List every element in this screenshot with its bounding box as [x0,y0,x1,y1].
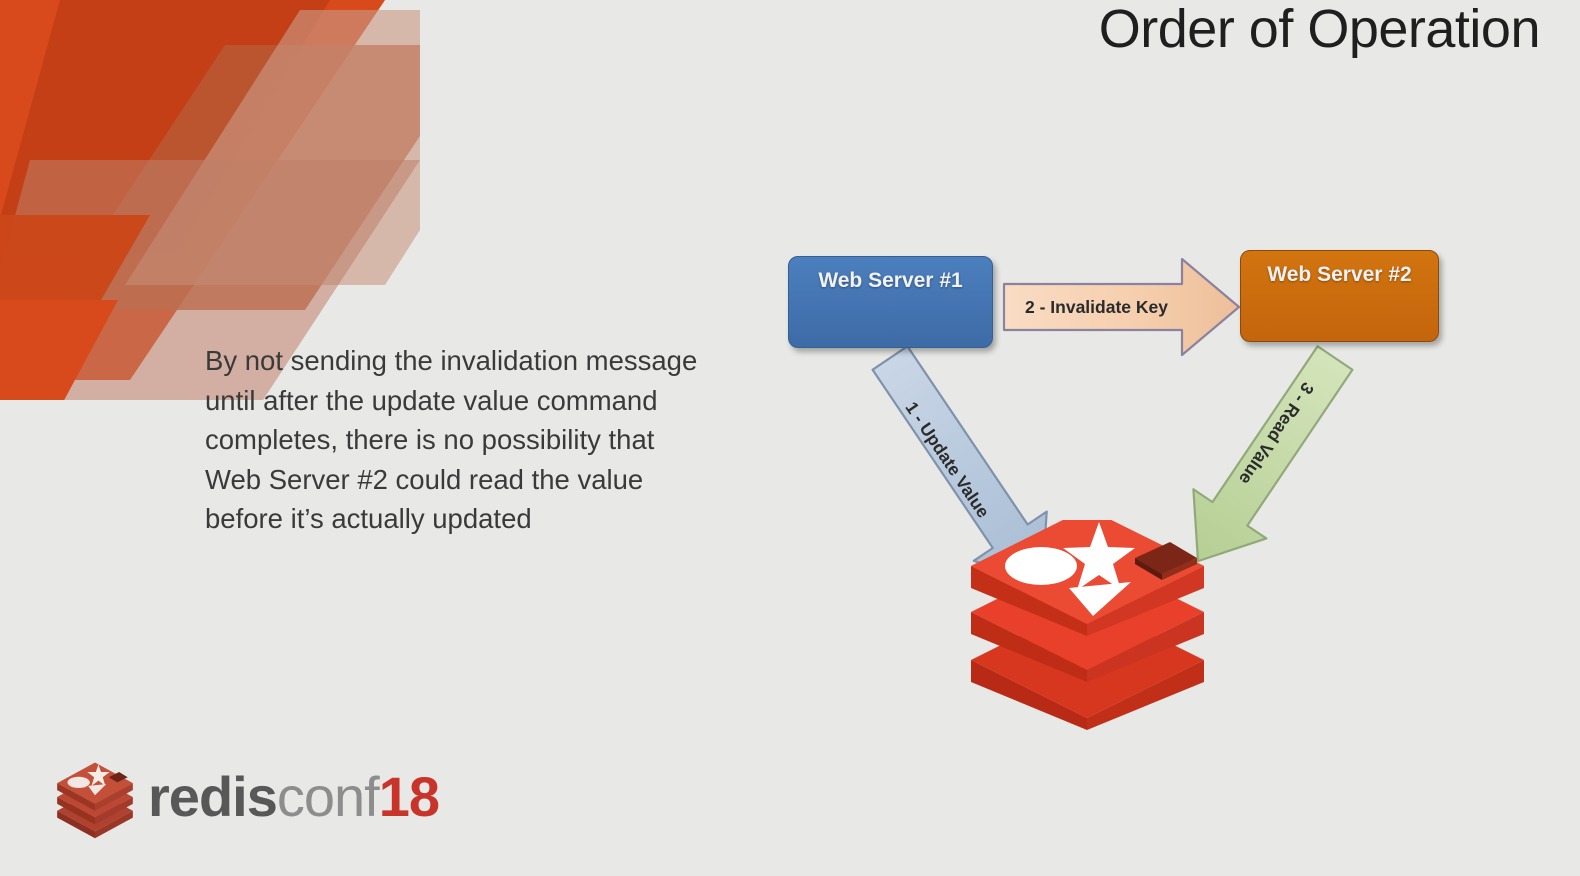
corner-chevron-graphic [0,0,420,400]
redisconf-logo: redisconf18 [52,752,439,842]
node-web-server-2[interactable]: Web Server #2 [1240,250,1439,342]
redisconf-wordmark: redisconf18 [148,769,439,825]
node-web-server-1[interactable]: Web Server #1 [788,256,993,348]
wordmark-year: 18 [379,765,439,828]
wordmark-conf: conf [277,765,379,828]
node-web-server-2-label: Web Server #2 [1267,263,1411,341]
redis-cube-icon [52,754,138,840]
body-paragraph: By not sending the invalidation message … [205,341,705,539]
presentation-slide: Order of Operation By not sending the in… [0,0,1580,876]
wordmark-redis: redis [148,765,277,828]
node-web-server-1-label: Web Server #1 [818,269,962,347]
order-of-operation-diagram: 1 - Update Value 2 - Invalidate Key 3 - … [760,230,1480,760]
redis-cube-icon [965,520,1210,730]
arrow-invalidate-key-label: 2 - Invalidate Key [1025,297,1168,318]
page-title: Order of Operation [1099,0,1540,60]
